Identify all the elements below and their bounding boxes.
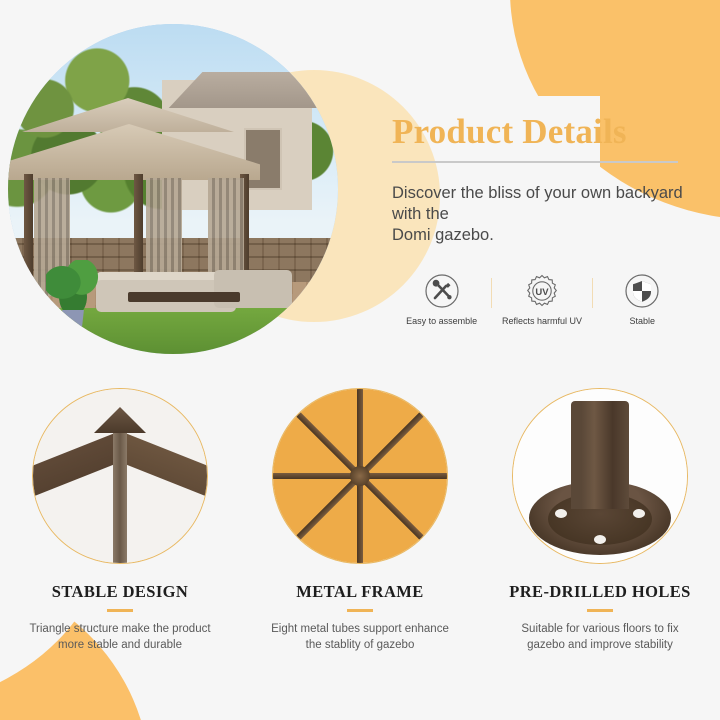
card-title: STABLE DESIGN [52, 582, 188, 602]
hero-gazebo-photo [8, 24, 338, 354]
detail-card-row: STABLE DESIGN Triangle structure make th… [0, 388, 720, 653]
photo-house-window [244, 128, 282, 190]
feature-label: Easy to assemble [392, 316, 491, 326]
card-image-base-plate [512, 388, 688, 564]
detail-card-stable-design: STABLE DESIGN Triangle structure make th… [0, 388, 240, 653]
card-accent-underline [347, 609, 373, 612]
photo-potted-plant [46, 260, 100, 316]
card-title: PRE-DRILLED HOLES [509, 582, 690, 602]
tools-icon [392, 272, 491, 310]
card-description: Triangle structure make the product more… [13, 621, 228, 653]
hero-subcopy: Discover the bliss of your own backyard … [392, 183, 692, 246]
shield-icon [593, 272, 692, 310]
feature-reflects-uv: UV Reflects harmful UV [492, 272, 591, 326]
photo-gazebo-post [24, 174, 33, 298]
uv-badge-icon: UV [492, 272, 591, 310]
card3-drilled-hole [555, 509, 567, 518]
card3-post-tube [571, 401, 629, 509]
card-title: METAL FRAME [296, 582, 423, 602]
page-title: Product Details [392, 112, 692, 152]
card-image-gazebo-corner [32, 388, 208, 564]
card-accent-underline [107, 609, 133, 612]
card-image-metal-frame [272, 388, 448, 564]
photo-sofa-second [214, 270, 292, 308]
card2-frame-hub [350, 466, 370, 486]
feature-label: Reflects harmful UV [492, 316, 591, 326]
feature-easy-to-assemble: Easy to assemble [392, 272, 491, 326]
detail-card-pre-drilled-holes: PRE-DRILLED HOLES Suitable for various f… [480, 388, 720, 653]
card1-support-column [113, 433, 127, 563]
feature-label: Stable [593, 316, 692, 326]
product-details-page: Product Details Discover the bliss of yo… [0, 0, 720, 720]
photo-coffee-table [128, 292, 240, 302]
card-description: Suitable for various floors to fix gazeb… [493, 621, 708, 653]
card-description: Eight metal tubes support enhance the st… [253, 621, 468, 653]
headline-block: Product Details Discover the bliss of yo… [392, 112, 692, 246]
card-accent-underline [587, 609, 613, 612]
uv-badge-text: UV [535, 287, 549, 298]
feature-icon-row: Easy to assemble UV Reflects harmful UV [392, 272, 692, 326]
card3-drilled-hole [633, 509, 645, 518]
feature-stable: Stable [593, 272, 692, 326]
card3-drilled-hole [594, 535, 606, 544]
title-divider [392, 161, 678, 163]
detail-card-metal-frame: METAL FRAME Eight metal tubes support en… [240, 388, 480, 653]
